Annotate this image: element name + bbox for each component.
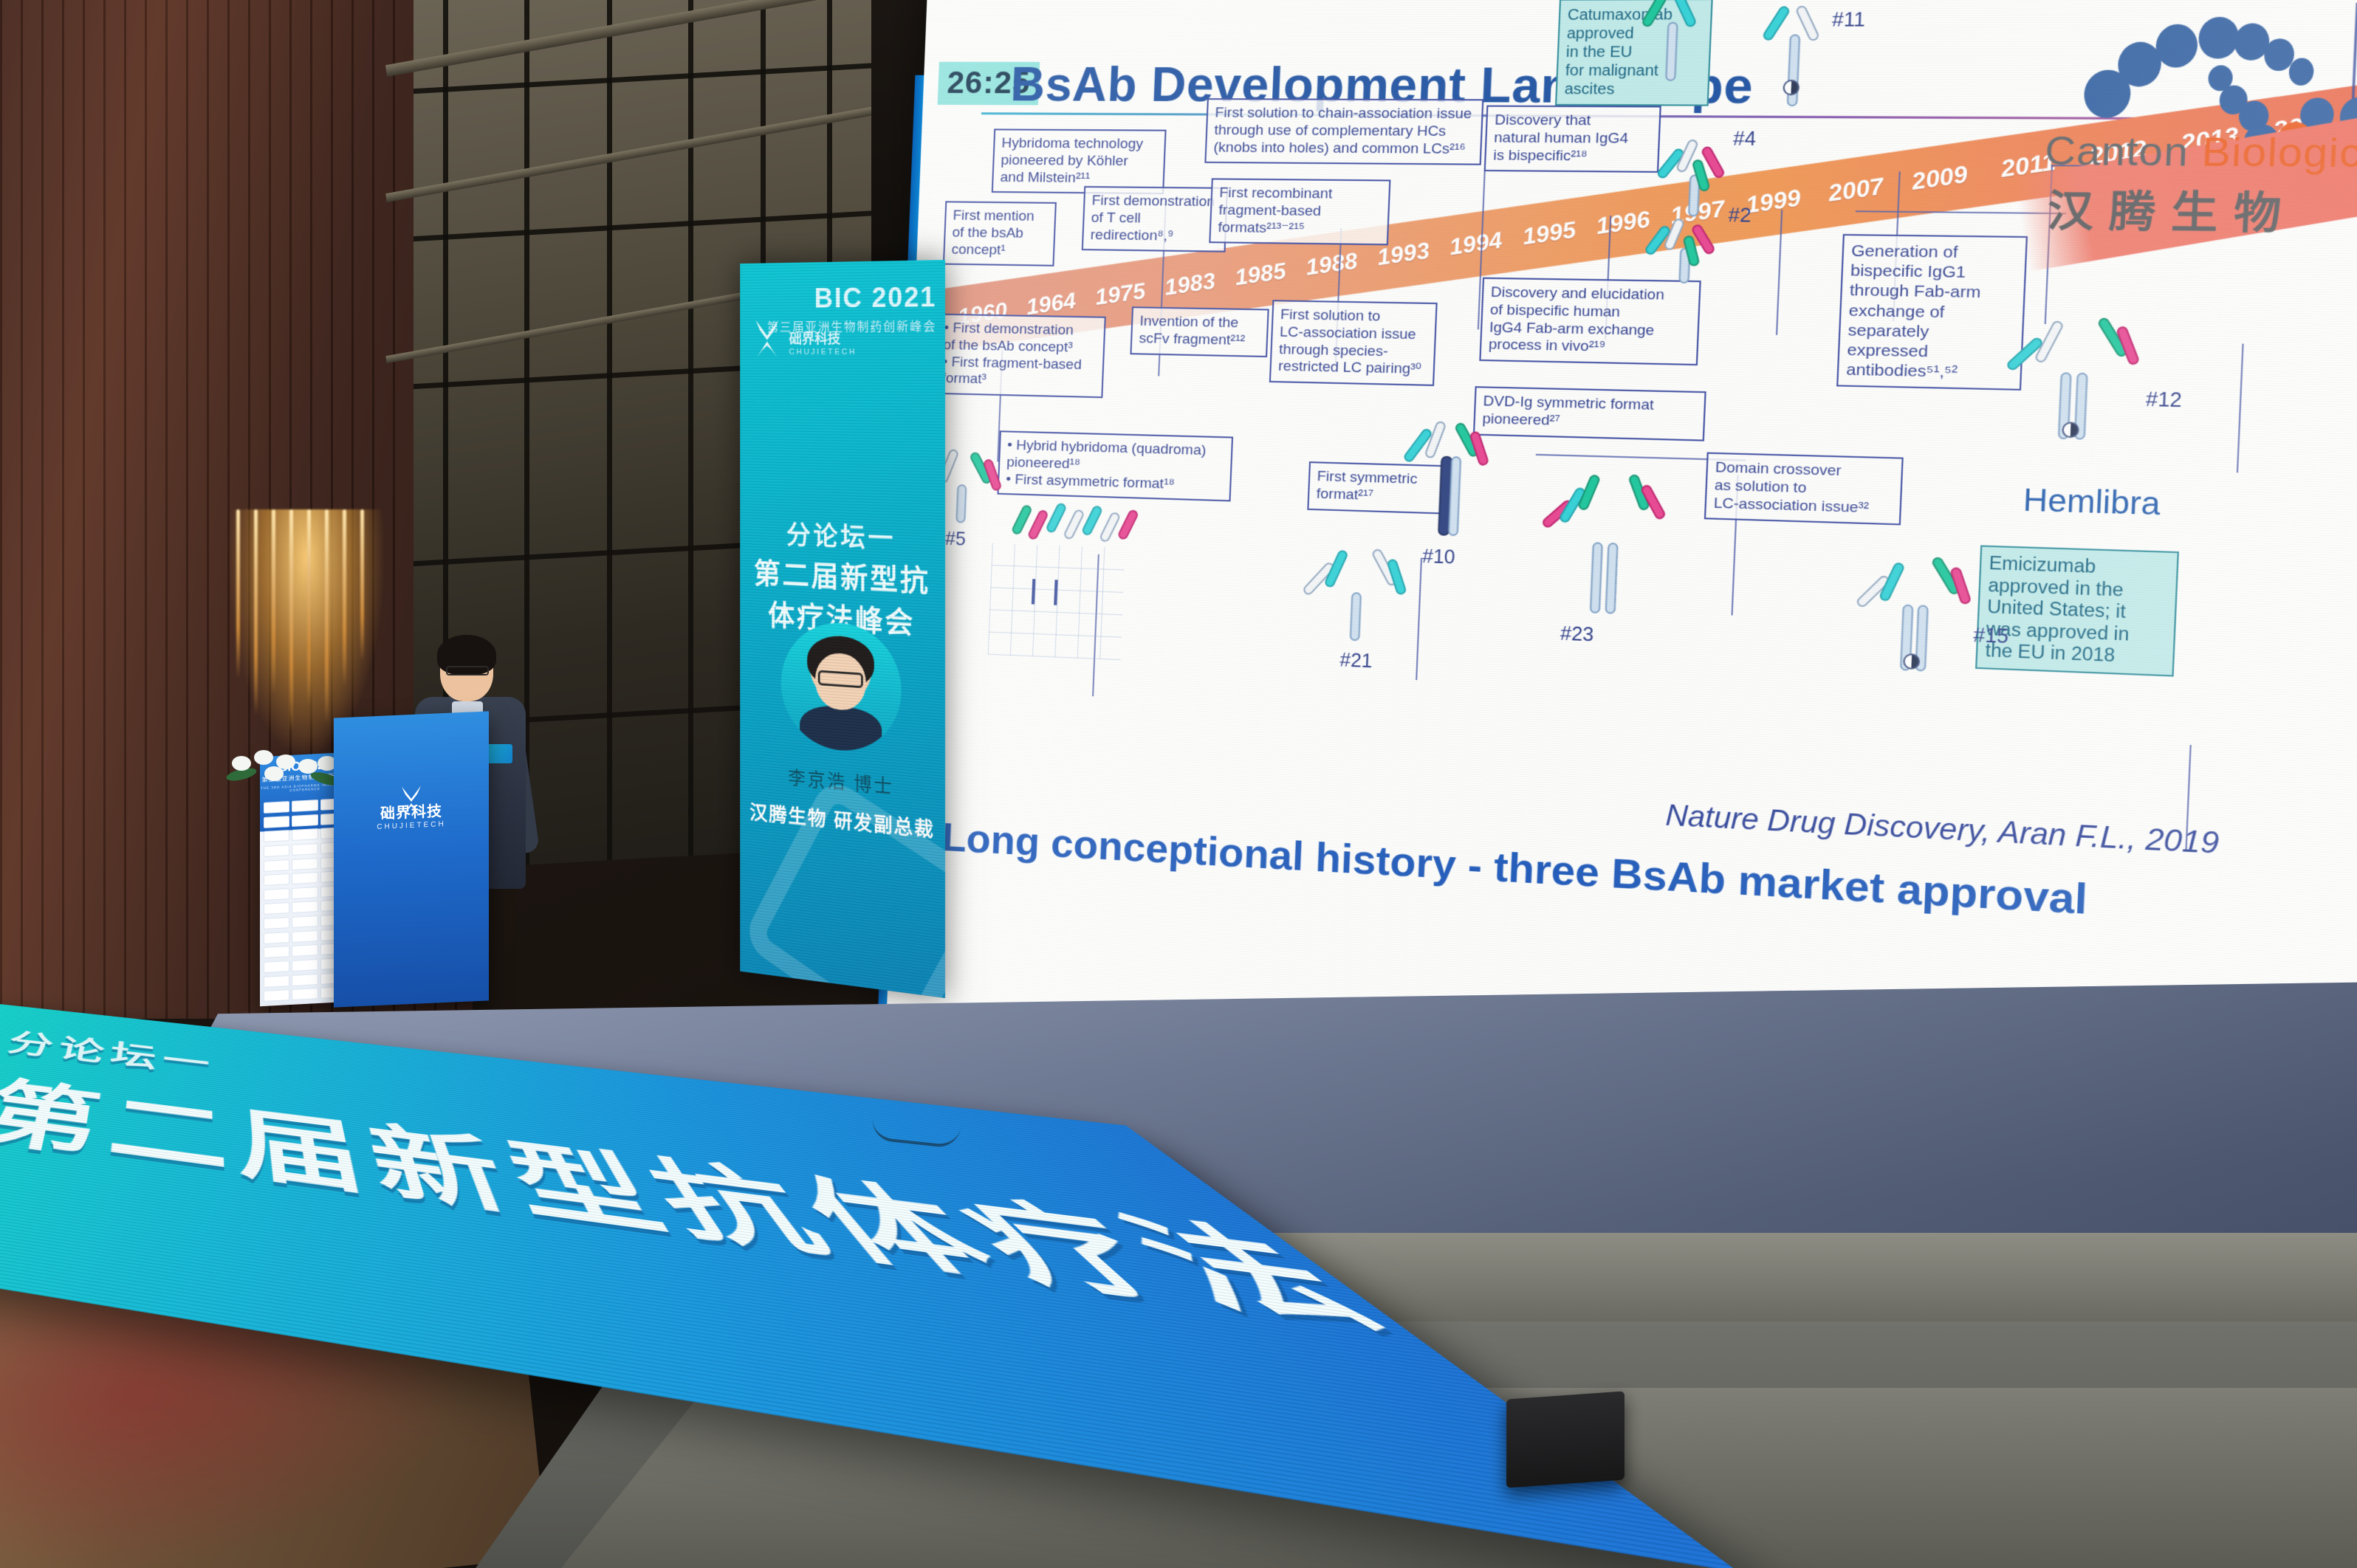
format-tag-23: #23 bbox=[1560, 623, 1594, 647]
note-emicizumab: Emicizumab approved in the United States… bbox=[1975, 545, 2179, 676]
banner-event-code: BIC 2021 bbox=[814, 282, 937, 314]
hemlibra-label: Hemlibra bbox=[2023, 483, 2161, 523]
chujietech-x-icon bbox=[752, 318, 782, 358]
note-scfv-invention: Invention of the scFv fragment²¹² bbox=[1130, 306, 1269, 357]
fragment-matrix-diagram bbox=[988, 543, 1125, 660]
fragment-cluster-pills bbox=[1016, 492, 1169, 557]
speaker-portrait-avatar bbox=[781, 620, 902, 756]
slide-bsab-development-landscape: 26:25 BsAb Development Landscape 1960 19… bbox=[886, 0, 2357, 1144]
note-lc-association: First solution to LC-association issue t… bbox=[1269, 300, 1438, 386]
format-tag-5: #5 bbox=[944, 529, 966, 551]
format-tag-11-top: #11 bbox=[1831, 9, 1865, 32]
format-tag-4: #4 bbox=[1733, 128, 1757, 151]
logo-chinese-name: 汉腾生物 bbox=[2046, 176, 2298, 241]
banner-sponsor-name-en: CHUJIETECH bbox=[789, 348, 857, 357]
banner-decorative-frame bbox=[741, 774, 945, 998]
note-hybridoma-kohler: Hybridoma technology pioneered by Köhler… bbox=[992, 128, 1167, 194]
antibody-glyph-23 bbox=[1545, 454, 1664, 620]
banner-speaker-role: 汉腾生物 研发副总裁 bbox=[740, 796, 945, 844]
note-igg1-fab-arm: Generation of bispecific IgG1 through Fa… bbox=[1836, 234, 2028, 391]
timeline-year: 2007 bbox=[1827, 173, 1885, 207]
note-dvd-ig: DVD-Ig symmetric format pioneered²⁷ bbox=[1473, 386, 1706, 441]
slide-citation: Nature Drug Discovery, Aran F.L., 2019 bbox=[1665, 800, 2220, 862]
antibody-glyph-15 bbox=[1859, 537, 1971, 683]
format-tag-10: #10 bbox=[1421, 546, 1455, 569]
banner-sponsor-name: 础界科技 CHUJIETECH bbox=[789, 329, 857, 357]
stage-monitor-speaker bbox=[1506, 1391, 1624, 1488]
timeline-year: 1996 bbox=[1595, 207, 1652, 241]
speaker-led-banner: BIC 2021 第三届亚洲生物制药创新峰会 础界科技 CHUJIETECH 分… bbox=[740, 260, 945, 998]
note-fab-arm-invivo: Discovery and elucidation of bispecific … bbox=[1479, 278, 1701, 366]
timeline-year: 2009 bbox=[1910, 162, 1969, 196]
projection-screen: 26:25 BsAb Development Landscape 1960 19… bbox=[886, 0, 2357, 1144]
antibody-glyph-12 bbox=[2010, 295, 2136, 450]
antibody-glyph-11-right bbox=[1639, 0, 1705, 87]
logo-wordmark: Canton Biologics bbox=[2044, 128, 2357, 176]
antibody-glyph-11-top bbox=[1760, 0, 1828, 114]
antibody-glyph-21 bbox=[1308, 527, 1406, 652]
conference-stage-photo: 26:25 BsAb Development Landscape 1960 19… bbox=[0, 0, 2357, 1568]
floor-sign-line-small: 分论坛一 bbox=[4, 1022, 216, 1083]
banner-speaker-name: 李京浩 博士 bbox=[740, 759, 945, 804]
format-tag-2: #2 bbox=[1728, 204, 1752, 227]
timeline-year: 1988 bbox=[1304, 248, 1359, 281]
podium-lectern: 础界科技 CHUJIETECH bbox=[334, 711, 489, 1007]
timeline-year: 1983 bbox=[1163, 269, 1216, 301]
note-quadroma: • Hybrid hybridoma (quadroma) pioneered¹… bbox=[997, 430, 1233, 502]
antibody-glyph-2 bbox=[1647, 208, 1724, 287]
note-first-mention: First mention of the bsAb concept¹ bbox=[943, 201, 1057, 267]
banner-event-subtitle: 第三届亚洲生物制药创新峰会 bbox=[767, 316, 937, 335]
note-bsab-concept-demo: • First demonstration of the bsAb concep… bbox=[933, 314, 1106, 399]
format-tag-12: #12 bbox=[2145, 388, 2182, 413]
note-chain-association: First solution to chain-association issu… bbox=[1204, 98, 1483, 165]
antibody-glyph-10 bbox=[1406, 409, 1487, 541]
antibody-glyph-4 bbox=[1658, 134, 1732, 220]
note-domain-crossover: Domain crossover as solution to LC-assoc… bbox=[1704, 453, 1904, 526]
note-igg4-bispecific: Discovery that natural human IgG4 is bis… bbox=[1484, 106, 1661, 173]
podium-logo: 础界科技 CHUJIETECH bbox=[334, 797, 489, 833]
note-first-t-cell: First demonstration of T cell redirectio… bbox=[1082, 186, 1228, 252]
logo-wordmark-canton: Canton bbox=[2044, 128, 2203, 174]
canton-biologics-logo: Canton Biologics 汉腾生物 bbox=[2042, 0, 2357, 238]
format-tag-21: #21 bbox=[1339, 650, 1373, 673]
logo-wordmark-biologics: Biologics bbox=[2200, 130, 2357, 176]
timeline-year: 1999 bbox=[1744, 185, 1802, 219]
format-tag-15: #15 bbox=[1973, 625, 2009, 649]
note-first-recombinant: First recombinant fragment-based formats… bbox=[1209, 178, 1390, 245]
banner-forum-line2: 第二届新型抗体疗法峰会 bbox=[740, 549, 945, 644]
banner-forum-line1: 分论坛一 bbox=[740, 513, 945, 558]
timeline-year: 1985 bbox=[1233, 258, 1287, 291]
timeline-year: 1994 bbox=[1448, 228, 1503, 261]
timeline-year: 1995 bbox=[1521, 217, 1577, 250]
